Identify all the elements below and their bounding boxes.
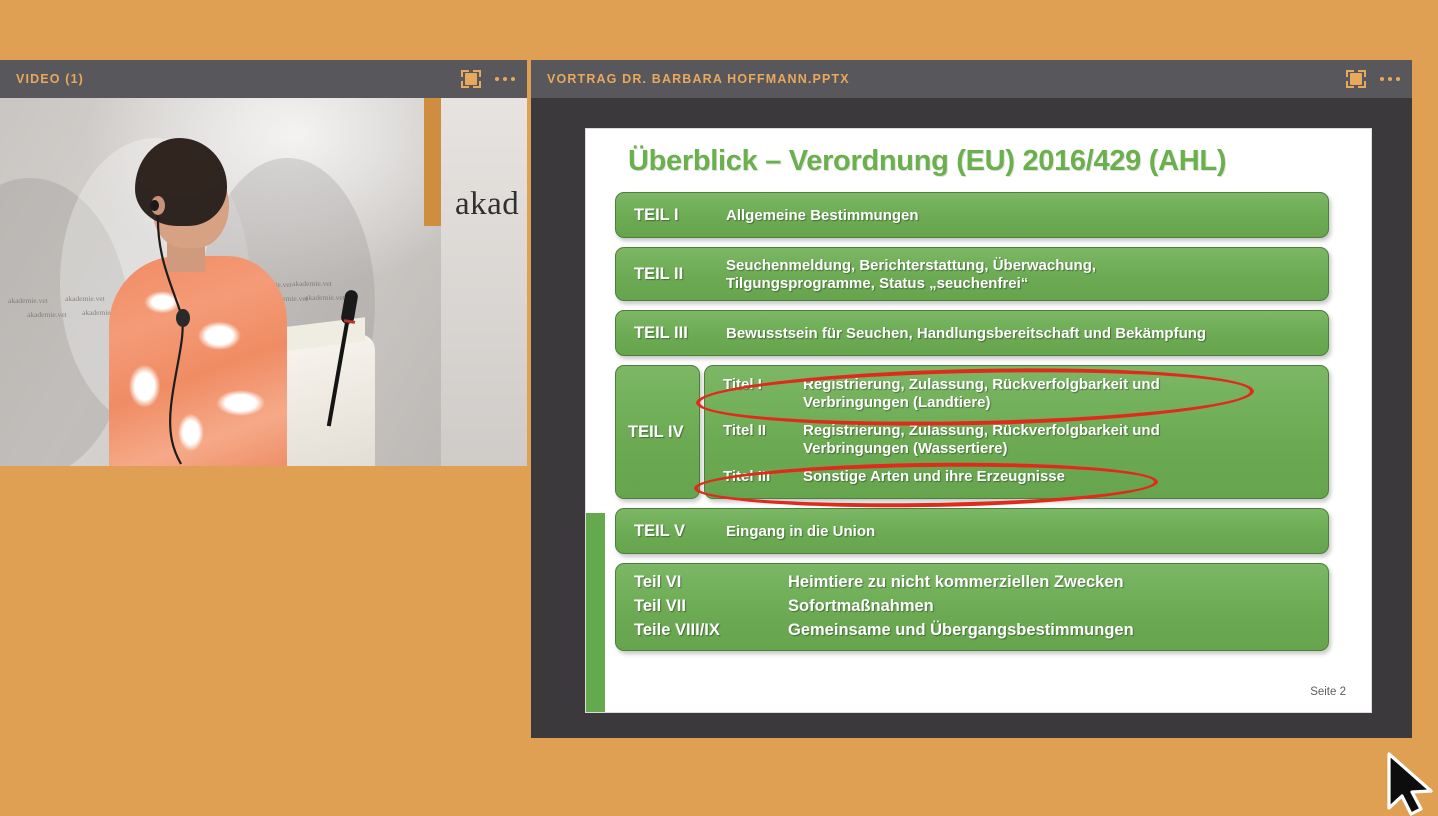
video-panel[interactable]: VIDEO (1) akademie.vet akademie.vet akad…: [0, 60, 527, 466]
slide-panel[interactable]: VORTRAG DR. BARBARA HOFFMANN.PPTX Überbl…: [531, 60, 1412, 738]
slide-heading: Überblick – Verordnung (EU) 2016/429 (AH…: [628, 145, 1226, 178]
slide-stage[interactable]: Überblick – Verordnung (EU) 2016/429 (AH…: [531, 98, 1412, 738]
row-part-label: TEIL IV: [628, 423, 684, 442]
titel-1-text: Registrierung, Zulassung, Rückverfolgbar…: [803, 376, 1160, 411]
tail-part-label: Teile VIII/IX: [634, 621, 720, 640]
earpiece-wire: [95, 138, 295, 466]
row-text: Allgemeine Bestimmungen: [726, 207, 919, 225]
row-text: Eingang in die Union: [726, 523, 875, 541]
akademie-wordmark: akad: [455, 186, 519, 223]
speaker-figure: [95, 138, 295, 466]
row-part-label: TEIL I: [634, 206, 679, 225]
slide-row-teil-4-content: Titel I Registrierung, Zulassung, Rückve…: [704, 365, 1329, 499]
slide-row-teil-2: TEIL II Seuchenmeldung, Berichterstattun…: [615, 247, 1329, 301]
titel-2-label: Titel II: [723, 422, 766, 439]
row-text: Seuchenmeldung, Berichterstattung, Überw…: [726, 257, 1096, 292]
wall-watermark: akademie.vet: [8, 296, 48, 305]
more-options-icon[interactable]: [495, 77, 516, 82]
titel-3-text: Sonstige Arten und ihre Erzeugnisse: [803, 468, 1065, 486]
video-panel-header: VIDEO (1): [0, 60, 527, 98]
slide-row-teil-3: TEIL III Bewusstsein für Seuchen, Handlu…: [615, 310, 1329, 356]
titel-3-label: Titel III: [723, 468, 770, 485]
row-part-label: TEIL V: [634, 522, 685, 541]
slide-row-teil-5: TEIL V Eingang in die Union: [615, 508, 1329, 554]
tail-text: Sofortmaßnahmen: [788, 597, 934, 616]
slide-panel-title: VORTRAG DR. BARBARA HOFFMANN.PPTX: [547, 72, 850, 86]
expand-icon[interactable]: [1346, 70, 1366, 88]
wall-watermark: akademie.vet: [292, 279, 332, 288]
mouse-cursor: [1385, 752, 1438, 816]
slide-row-teil-1: TEIL I Allgemeine Bestimmungen: [615, 192, 1329, 238]
wall-watermark: akademie.vet: [305, 293, 345, 302]
wall-watermark: akademie.vet: [27, 310, 67, 319]
wall-orange-strip: [424, 98, 441, 226]
video-header-tools: [461, 70, 516, 88]
expand-icon[interactable]: [461, 70, 481, 88]
titel-2-text: Registrierung, Zulassung, Rückverfolgbar…: [803, 422, 1160, 457]
video-panel-title: VIDEO (1): [16, 72, 84, 86]
video-stage[interactable]: akademie.vet akademie.vet akademie.vet a…: [0, 98, 527, 466]
tail-part-label: Teil VI: [634, 573, 681, 592]
slide-row-teil-4-label: TEIL IV: [615, 365, 700, 499]
presentation-slide[interactable]: Überblick – Verordnung (EU) 2016/429 (AH…: [586, 129, 1371, 712]
slide-page-number: Seite 2: [1310, 686, 1346, 698]
slide-header-tools: [1346, 70, 1401, 88]
row-part-label: TEIL III: [634, 324, 688, 343]
slide-accent-bar: [586, 513, 605, 712]
wall-right-segment: [441, 98, 527, 466]
row-text: Bewusstsein für Seuchen, Handlungsbereit…: [726, 325, 1206, 343]
tail-text: Gemeinsame und Übergangsbestimmungen: [788, 621, 1134, 640]
tail-part-label: Teil VII: [634, 597, 686, 616]
slide-row-teil-6-9: Teil VI Heimtiere zu nicht kommerziellen…: [615, 563, 1329, 651]
row-part-label: TEIL II: [634, 265, 683, 284]
slide-panel-header: VORTRAG DR. BARBARA HOFFMANN.PPTX: [531, 60, 1412, 98]
titel-1-label: Titel I: [723, 376, 762, 393]
tail-text: Heimtiere zu nicht kommerziellen Zwecken: [788, 573, 1124, 592]
more-options-icon[interactable]: [1380, 77, 1401, 82]
